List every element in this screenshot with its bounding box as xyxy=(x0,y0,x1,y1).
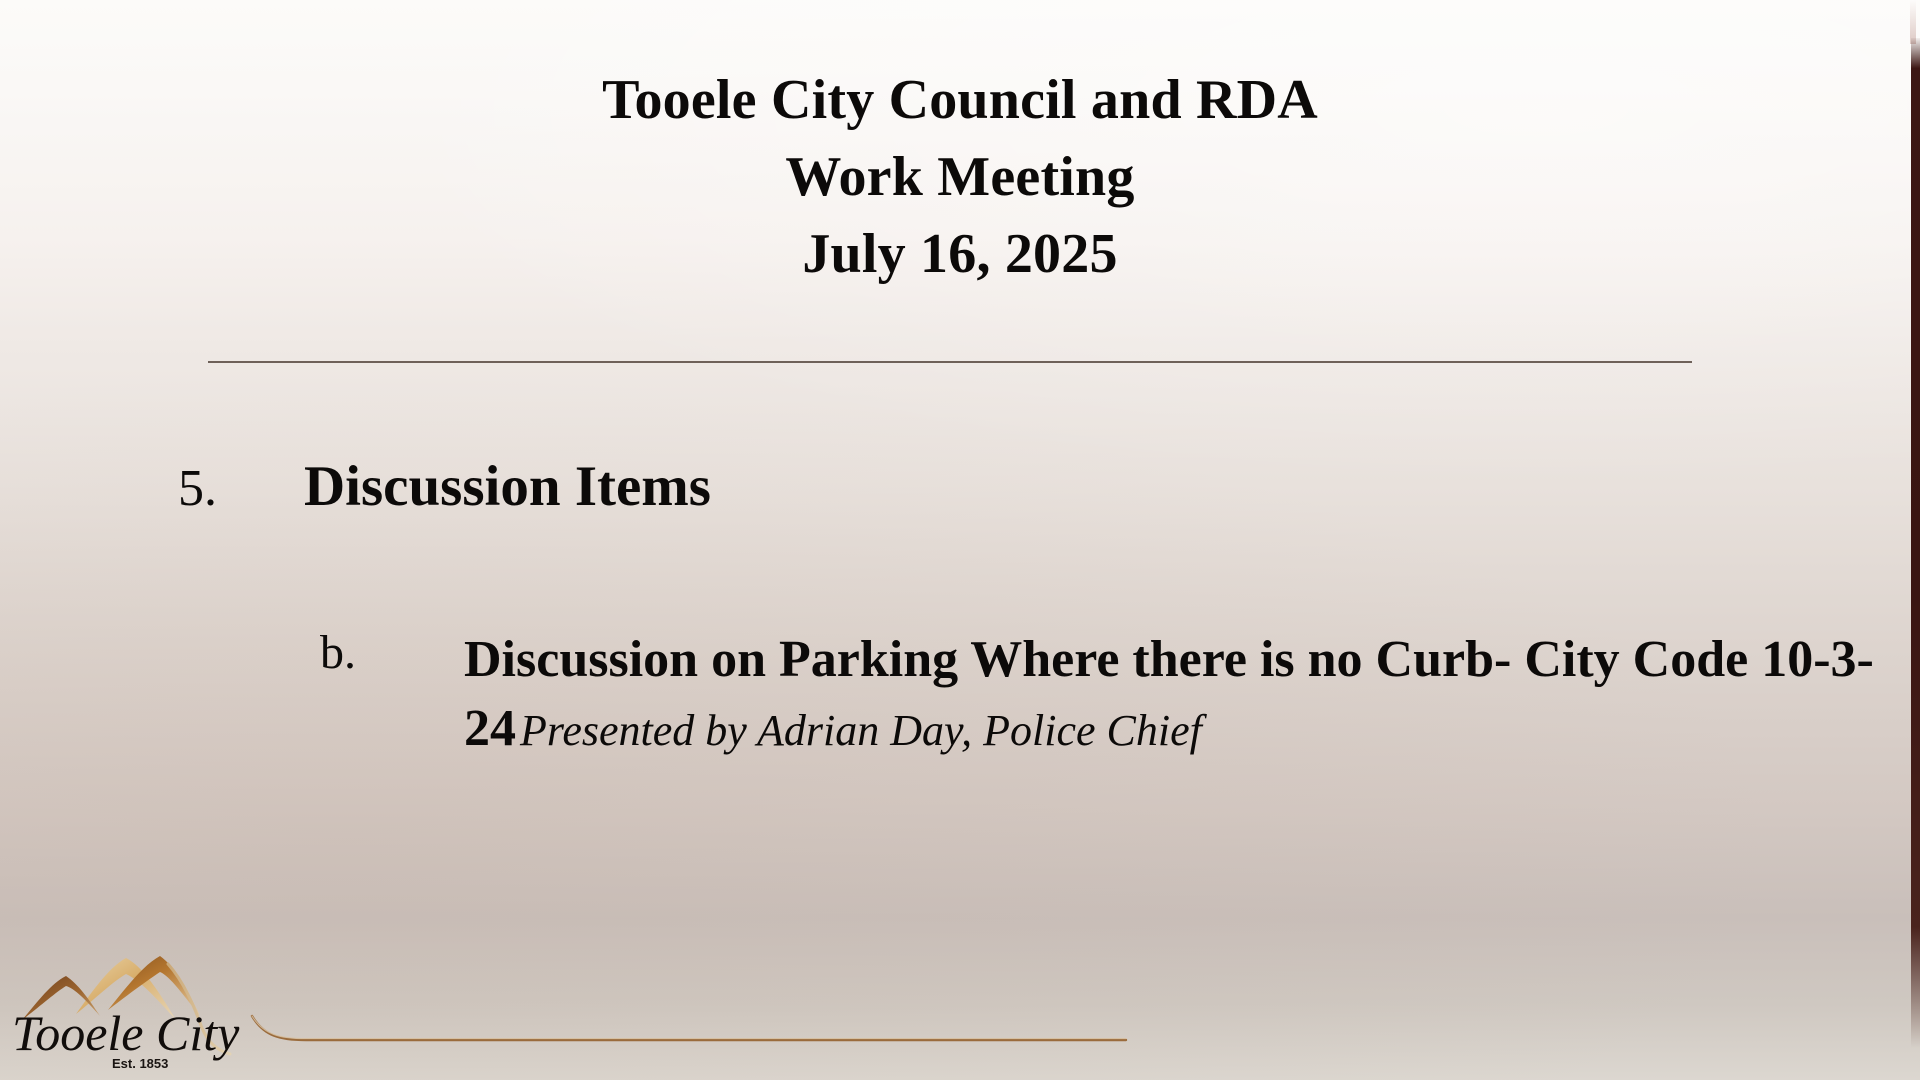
slide-right-edge-strip xyxy=(1911,38,1920,1048)
tooele-city-logo: Tooele City Est. 1853 xyxy=(8,942,308,1072)
agenda-item-5: 5. Discussion Items xyxy=(178,455,711,519)
logo-established: Est. 1853 xyxy=(112,1056,168,1071)
logo-wordmark: Tooele City xyxy=(12,1005,240,1061)
agenda-item-5-label: Discussion Items xyxy=(304,455,711,519)
presentation-slide: Tooele City Council and RDA Work Meeting… xyxy=(0,0,1920,1080)
agenda-item-5b-marker: b. xyxy=(320,625,464,682)
agenda-item-5b-content: Discussion on Parking Where there is no … xyxy=(464,625,1920,763)
agenda-item-5b: b. Discussion on Parking Where there is … xyxy=(320,625,1920,763)
agenda-item-5-marker: 5. xyxy=(178,459,304,518)
footer-rule xyxy=(250,1014,1130,1054)
agenda-item-5b-presenter: Presented by Adrian Day, Police Chief xyxy=(520,706,1202,755)
slide-body: 5. Discussion Items b. Discussion on Par… xyxy=(0,0,1920,1080)
